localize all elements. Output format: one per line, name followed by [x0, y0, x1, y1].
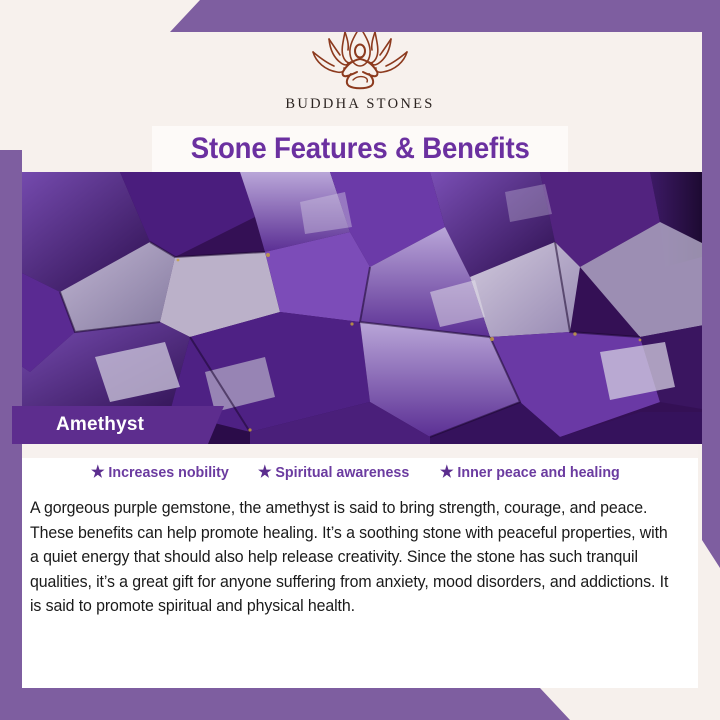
gem-description: A gorgeous purple gemstone, the amethyst…	[30, 496, 670, 619]
benefit-item-1: ★ Increases nobility	[91, 464, 229, 481]
gem-name: Amethyst	[56, 414, 144, 436]
benefit-label-2: Spiritual awareness	[276, 464, 410, 481]
page-title-box: Stone Features & Benefits	[152, 126, 568, 172]
brand-name: BUDDHA STONES	[285, 96, 434, 113]
gem-name-banner: Amethyst	[12, 406, 224, 444]
crystal-cluster-graphic	[0, 172, 720, 444]
benefit-item-3: ★ Inner peace and healing	[440, 464, 620, 481]
benefit-label-3: Inner peace and healing	[457, 464, 619, 481]
star-icon: ★	[91, 465, 105, 481]
content-card: ★ Increases nobility ★ Spiritual awarene…	[22, 444, 698, 688]
lotus-meditation-figure-icon	[285, 22, 435, 94]
benefit-label-1: Increases nobility	[109, 464, 229, 481]
infographic-page: BUDDHA STONES Stone Features & Benefits	[0, 0, 720, 720]
star-icon: ★	[440, 465, 454, 481]
benefits-row: ★ Increases nobility ★ Spiritual awarene…	[22, 464, 698, 481]
amethyst-hero-image	[0, 172, 720, 444]
right-purple-strip-decoration	[702, 0, 720, 568]
bottom-purple-band-decoration	[0, 688, 720, 720]
page-title: Stone Features & Benefits	[191, 132, 530, 166]
card-top-tint	[22, 444, 698, 458]
star-icon: ★	[258, 465, 272, 481]
benefit-item-2: ★ Spiritual awareness	[258, 464, 409, 481]
brand-logo: BUDDHA STONES	[0, 22, 720, 113]
